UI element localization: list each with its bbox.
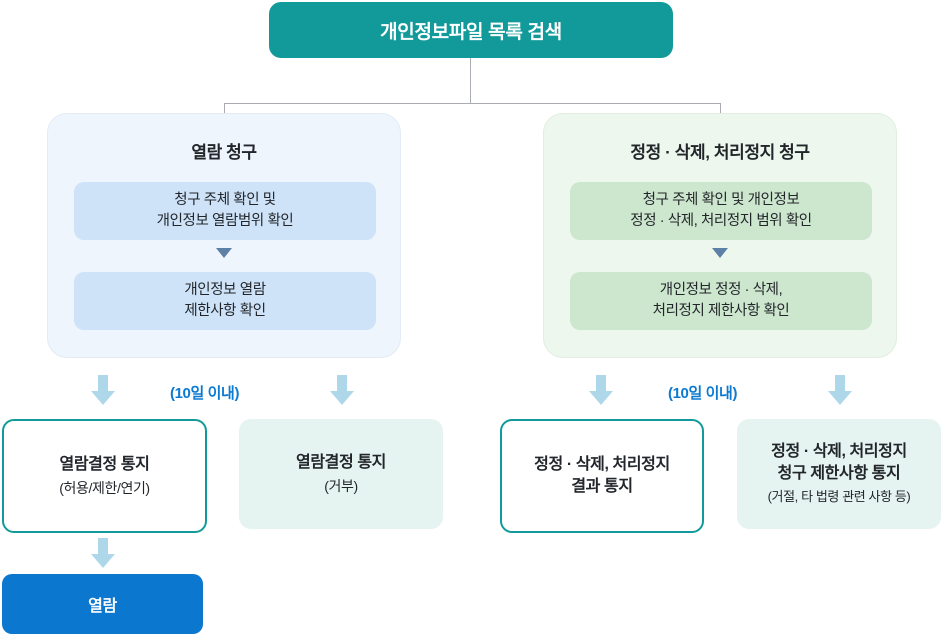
- panel-view-request: 열람 청구 청구 주체 확인 및 개인정보 열람범위 확인 개인정보 열람 제한…: [47, 113, 401, 358]
- result-box-view-refusal-notice-main: 열람결정 통지: [296, 452, 386, 474]
- header-search-box[interactable]: 개인정보파일 목록 검색: [269, 2, 673, 58]
- step-box-correction-2-line1: 개인정보 정정 · 삭제,: [660, 280, 782, 301]
- result-box-correction-restriction-notice-sub: (거절, 타 법령 관련 사항 등): [768, 488, 911, 506]
- result-box-view-decision-notice-main: 열람결정 통지: [60, 454, 150, 476]
- connector-horizontal-split: [224, 103, 721, 104]
- result-box-correction-result-notice-line1: 정정 · 삭제, 처리정지: [534, 454, 670, 476]
- arrow-down-icon-view-right: [330, 375, 354, 405]
- header-label: 개인정보파일 목록 검색: [380, 17, 562, 44]
- result-box-correction-result-notice-line2: 결과 통지: [571, 476, 632, 498]
- panel-correction-request: 정정 · 삭제, 처리정지 청구 청구 주체 확인 및 개인정보 정정 · 삭제…: [543, 113, 897, 358]
- step-box-correction-1: 청구 주체 확인 및 개인정보 정정 · 삭제, 처리정지 범위 확인: [570, 182, 872, 240]
- step-box-view-1-line2: 개인정보 열람범위 확인: [157, 211, 294, 232]
- arrow-down-icon-final: [91, 538, 115, 568]
- step-box-view-1: 청구 주체 확인 및 개인정보 열람범위 확인: [74, 182, 376, 240]
- result-box-view-decision-notice[interactable]: 열람결정 통지 (허용/제한/연기): [2, 419, 207, 533]
- step-box-correction-1-line1: 청구 주체 확인 및 개인정보: [643, 190, 800, 211]
- result-box-view-refusal-notice-sub: (거부): [324, 477, 357, 497]
- step-box-view-2-line1: 개인정보 열람: [184, 280, 265, 301]
- final-box-view-label: 열람: [88, 592, 117, 616]
- arrow-down-icon-correction-left: [589, 375, 613, 405]
- triangle-down-icon-correction: [712, 248, 728, 258]
- triangle-down-icon-view: [216, 248, 232, 258]
- step-box-correction-2: 개인정보 정정 · 삭제, 처리정지 제한사항 확인: [570, 272, 872, 330]
- result-box-correction-restriction-notice-line1: 정정 · 삭제, 처리정지: [771, 441, 907, 463]
- deadline-label-correction: (10일 이내): [668, 382, 737, 403]
- step-box-correction-1-line2: 정정 · 삭제, 처리정지 범위 확인: [630, 211, 811, 232]
- step-box-view-2: 개인정보 열람 제한사항 확인: [74, 272, 376, 330]
- arrow-down-icon-view-left: [91, 375, 115, 405]
- panel-title-correction-request: 정정 · 삭제, 처리정지 청구: [544, 138, 896, 163]
- step-box-correction-2-line2: 처리정지 제한사항 확인: [653, 301, 790, 322]
- result-box-view-refusal-notice[interactable]: 열람결정 통지 (거부): [239, 419, 443, 529]
- result-box-correction-restriction-notice[interactable]: 정정 · 삭제, 처리정지 청구 제한사항 통지 (거절, 타 법령 관련 사항…: [737, 419, 941, 529]
- result-box-view-decision-notice-sub: (허용/제한/연기): [59, 479, 149, 499]
- step-box-view-1-line1: 청구 주체 확인 및: [174, 190, 275, 211]
- panel-title-view-request: 열람 청구: [48, 138, 400, 163]
- final-box-view[interactable]: 열람: [2, 574, 203, 634]
- connector-vertical-main: [470, 58, 471, 104]
- step-box-view-2-line2: 제한사항 확인: [184, 301, 265, 322]
- arrow-down-icon-correction-right: [828, 375, 852, 405]
- deadline-label-view: (10일 이내): [170, 382, 239, 403]
- flowchart-canvas: 개인정보파일 목록 검색 열람 청구 청구 주체 확인 및 개인정보 열람범위 …: [0, 0, 945, 635]
- result-box-correction-result-notice[interactable]: 정정 · 삭제, 처리정지 결과 통지: [500, 419, 704, 533]
- result-box-correction-restriction-notice-line2: 청구 제한사항 통지: [778, 463, 901, 485]
